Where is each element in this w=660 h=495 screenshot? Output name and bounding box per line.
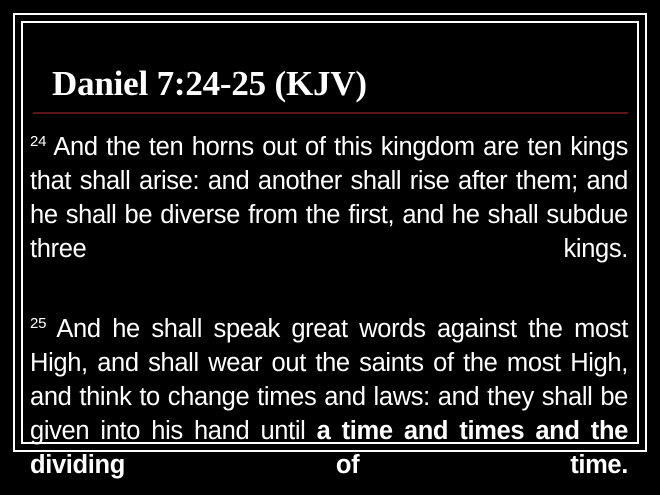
verse-paragraph-25: 25 And he shall speak great words agains… bbox=[30, 307, 628, 495]
verse-number-25: 25 bbox=[30, 315, 46, 332]
verse-paragraph-24: 24 And the ten horns out of this kingdom… bbox=[30, 125, 628, 300]
scripture-body: 24 And the ten horns out of this kingdom… bbox=[30, 125, 630, 495]
title-divider bbox=[33, 112, 628, 114]
slide-title: Daniel 7:24-25 (KJV) bbox=[30, 26, 630, 101]
verse-number-24: 24 bbox=[30, 133, 46, 150]
verse-text-24: And the ten horns out of this kingdom ar… bbox=[30, 133, 628, 263]
slide-content: Daniel 7:24-25 (KJV) 24 And the ten horn… bbox=[30, 26, 630, 439]
presentation-slide: Daniel 7:24-25 (KJV) 24 And the ten horn… bbox=[0, 0, 660, 495]
